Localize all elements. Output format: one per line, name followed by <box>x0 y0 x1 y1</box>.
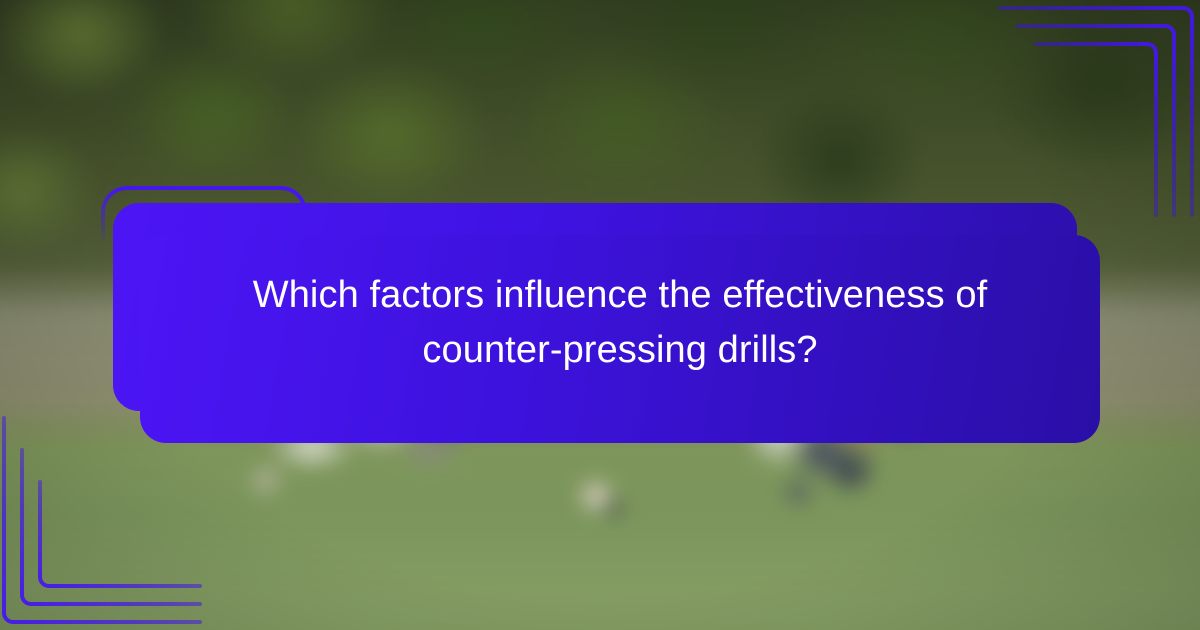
question-card: Which factors influence the effectivenes… <box>140 203 1100 443</box>
question-text: Which factors influence the effectivenes… <box>240 268 1000 378</box>
poster-canvas: Which factors influence the effectivenes… <box>0 0 1200 630</box>
